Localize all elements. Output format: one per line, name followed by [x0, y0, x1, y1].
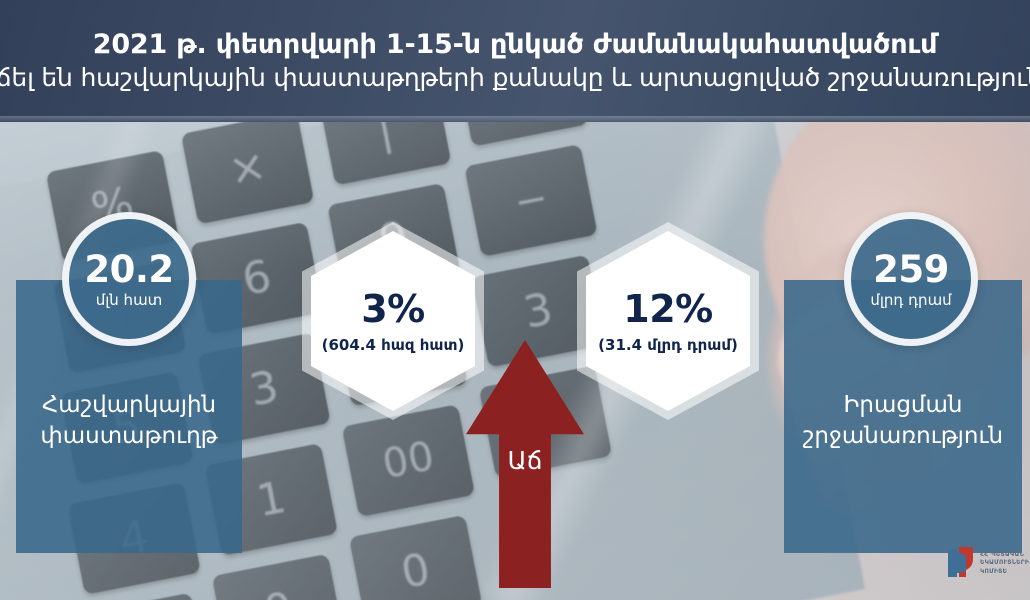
hexagon-badge-2: 12% (31.4 մլրդ դրամ): [577, 222, 759, 420]
infographic-canvas: % × | + 7 6 9 − 5 3 6 3 4 1 00 · √ 0 0: [0, 0, 1030, 600]
header-title-line1: 2021 թ. փետրվարի 1-15-ն ընկած ժամանակահա…: [93, 29, 937, 60]
arrow-label: Աճ: [466, 448, 584, 473]
hexagon-2-value: 12%: [623, 290, 712, 328]
left-circle-unit: մլն հատ: [96, 293, 163, 308]
header-title-line2: աճել են հաշվարկային փաստաթղթերի քանակը և…: [0, 63, 1030, 93]
left-circle-badge: 20.2 մլն հատ: [62, 212, 196, 346]
logo-text-line1: ՀՀ ՊԵՏԱԿԱՆ: [980, 551, 1029, 559]
right-panel-label: Իրացմանշրջանառություն: [795, 390, 1011, 452]
logo-text-line2: ԵԿԱՄՈՒՏՆԵՐԻ: [980, 559, 1029, 567]
logo-text-line3: ԿՈՄԻՏԵ: [980, 568, 1029, 576]
header-band: 2021 թ. փետրվարի 1-15-ն ընկած ժամանակահա…: [0, 0, 1030, 122]
hexagon-1-sublabel: (604.4 հազ հատ): [322, 338, 465, 353]
right-circle-unit: մլրդ դրամ: [870, 293, 951, 308]
left-panel-label: Հաշվարկայինփաստաթուղթ: [32, 390, 225, 452]
left-circle-value: 20.2: [84, 251, 173, 288]
organization-logo: ՀՀ ՊԵՏԱԿԱՆ ԵԿԱՄՈՒՏՆԵՐԻ ԿՈՄԻՏԵ: [948, 546, 1029, 580]
hexagon-2-sublabel: (31.4 մլրդ դրամ): [598, 338, 738, 353]
right-circle-value: 259: [873, 251, 949, 288]
right-circle-badge: 259 մլրդ դրամ: [844, 212, 978, 346]
hexagon-1-value: 3%: [361, 290, 425, 328]
hexagon-badge-1: 3% (604.4 հազ հատ): [302, 222, 484, 420]
logo-mark-icon: [948, 546, 974, 580]
